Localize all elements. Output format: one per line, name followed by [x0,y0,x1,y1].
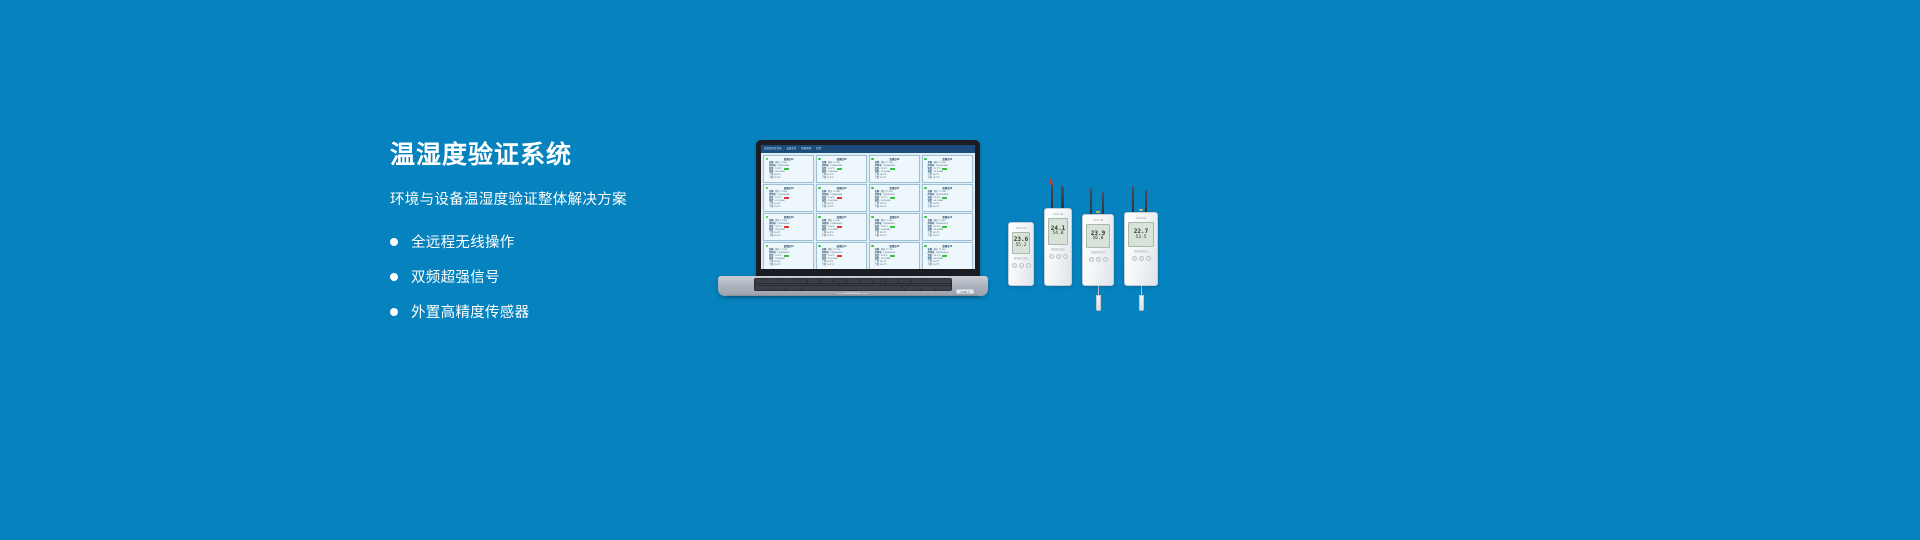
key [781,279,793,281]
device-lcd-display: 22.753.5 [1128,222,1154,247]
lcd-humidity-value: 55.2 [1016,244,1027,249]
key [755,281,782,283]
monitor-card-fields: 名称:探头 T7-009序列号:1320450609温度:26.1℃湿度:58.… [766,220,811,239]
field-value: 下限 15.0℃ [822,264,834,267]
key [924,279,951,281]
ok-chip-icon [890,197,895,199]
monitor-card-row-lower: 下限 15.0℃ [769,177,811,180]
keyboard-row [755,284,951,286]
monitor-card-row-lower: 下限 15.0℃ [769,206,811,209]
app-menu-item[interactable]: 报警 [816,145,821,153]
status-led-icon [871,245,874,248]
laptop-brand-logo: HUAWEI [845,291,861,295]
alarm-chip-icon [837,197,842,199]
monitor-card-title: 监测点03 [872,158,917,161]
monitor-card-title: 监测点06 [819,187,864,190]
sensor-probe-icon [1096,295,1101,311]
status-led-icon [924,158,927,161]
key [795,281,807,283]
product-banner: 温湿度验证系统 环境与设备温湿度验证整体解决方案 全远程无线操作 双频超强信号 … [0,0,1920,540]
monitor-card-title: 监测点13 [766,245,811,248]
key [807,279,819,281]
key [860,281,872,283]
monitor-card-fields: 名称:探头 T7-003序列号:1320450603温度:23.9℃湿度:56.… [872,162,917,181]
feature-item: 双频超强信号 [390,266,720,287]
status-led-icon [871,187,874,190]
sensor-probe-icon [1139,295,1144,311]
bullet-dot-icon [390,308,398,316]
monitor-card-fields: 名称:探头 T7-005序列号:1320450605温度:25.3℃湿度:57.… [766,191,811,210]
key [853,284,866,286]
monitor-card[interactable]: 监测点08名称:探头 T7-008序列号:1320450608温度:23.8℃湿… [922,184,973,212]
connector-ring-icon [1096,211,1100,213]
key [872,279,884,281]
feature-label: 外置高精度传感器 [411,301,529,322]
monitor-card-row-lower: 下限 15.0℃ [822,206,864,209]
device-lcd-display: 23.956.0 [1086,224,1110,248]
page-subtitle: 环境与设备温湿度验证整体解决方案 [390,188,720,209]
key [921,288,936,290]
device-button[interactable] [1049,254,1054,259]
key [837,286,852,288]
monitor-card-row-lower: 下限 15.0℃ [928,177,970,180]
monitor-card-grid: 监测点01名称:探头 T7-001序列号:1320450601温度:23.6℃湿… [761,153,975,269]
field-value: 下限 15.0℃ [928,235,940,238]
monitor-card[interactable]: 监测点02名称:探头 T7-002序列号:1320450602温度:24.1℃湿… [816,155,867,183]
key [853,286,868,288]
key [782,281,794,283]
field-value: 下限 15.0℃ [928,264,940,267]
device-button[interactable] [1063,254,1068,259]
monitor-card[interactable]: 监测点03名称:探头 T7-003序列号:1320450603温度:23.9℃湿… [869,155,920,183]
key [905,288,920,290]
alarm-chip-icon [784,197,789,199]
key [833,279,845,281]
key [755,284,784,286]
monitor-card-row-lower: 下限 15.0℃ [875,177,917,180]
key [755,279,767,281]
monitor-card-title: 监测点12 [925,216,970,219]
monitor-card[interactable]: 监测点14名称:探头 T7-014序列号:1320450614温度:25.0℃湿… [816,242,867,269]
device-button[interactable] [1132,256,1137,261]
monitor-card[interactable]: 监测点09名称:探头 T7-009序列号:1320450609温度:26.1℃湿… [763,213,814,241]
bullet-dot-icon [390,238,398,246]
field-value: 下限 15.0℃ [769,264,781,267]
field-value: 下限 15.0℃ [875,206,887,209]
feature-list: 全远程无线操作 双频超强信号 外置高精度传感器 [390,231,720,322]
field-value: 下限 15.0℃ [769,235,781,238]
monitor-card-title: 监测点10 [819,216,864,219]
device-button[interactable] [1146,256,1151,261]
key [881,284,894,286]
key [820,279,832,281]
key [821,281,833,283]
monitor-card-title: 监测点16 [925,245,970,248]
laptop-base: HUAWEI CORE i7 [718,276,988,296]
monitor-card-row-lower: 下限 15.0℃ [875,264,917,267]
device-button[interactable] [1089,257,1094,262]
key [798,284,811,286]
monitor-card-row-lower: 下限 15.0℃ [822,264,864,267]
monitor-card-fields: 名称:探头 T7-016序列号:1320450616温度:24.2℃湿度:54.… [925,249,970,268]
monitor-card-row-lower: 下限 15.0℃ [928,264,970,267]
device-brand-label: COS-04 [1053,213,1064,216]
monitor-card-row-lower: 下限 15.0℃ [822,235,864,238]
device-button[interactable] [1103,257,1108,262]
app-menu-item[interactable]: 温湿度验证系统 [764,145,781,153]
device-lcd-display: 23.655.2 [1012,232,1030,254]
key [869,286,884,288]
device-button[interactable] [1056,254,1061,259]
lcd-humidity-value: 54.8 [1053,232,1064,237]
field-value: 下限 15.0℃ [822,235,834,238]
device-lcd-display: 24.154.8 [1048,218,1068,245]
key [755,288,770,290]
lcd-humidity-value: 53.5 [1136,236,1147,241]
antenna-icon [1061,186,1063,210]
laptop-shadow [726,295,980,298]
field-value: 下限 15.0℃ [822,206,834,209]
key [840,284,853,286]
status-led-icon [766,158,769,161]
device-brand-label: COS-05 [1093,219,1104,222]
key [936,288,951,290]
key [784,284,797,286]
monitor-card[interactable]: 监测点15名称:探头 T7-015序列号:1320450615温度:23.4℃湿… [869,242,920,269]
key [909,284,922,286]
device-group: COS-0323.655.2温湿度记录仪COS-0424.154.8温湿度记录仪… [1000,180,1220,320]
antenna-icon [1145,190,1147,214]
key [805,286,820,288]
feature-item: 全远程无线操作 [390,231,720,252]
antenna-icon [1090,188,1092,216]
laptop-spec-sticker: CORE i7 [956,289,974,294]
monitor-card-fields: 名称:探头 T7-014序列号:1320450614温度:25.0℃湿度:57.… [819,249,864,268]
feature-item: 外置高精度传感器 [390,301,720,322]
laptop-keyboard[interactable] [754,278,952,291]
key [898,279,910,281]
device-button[interactable] [1096,257,1101,262]
handheld-logger-3[interactable]: COS-0523.956.0温湿度验证仪 [1082,214,1114,286]
handheld-logger-4[interactable]: COS-0622.753.5温湿度验证仪 [1124,212,1158,286]
monitor-card[interactable]: 监测点13名称:探头 T7-013序列号:1320450613温度:24.8℃湿… [763,242,814,269]
feature-label: 双频超强信号 [411,266,500,287]
monitor-card[interactable]: 监测点05名称:探头 T7-005序列号:1320450605温度:25.3℃湿… [763,184,814,212]
probe-cap-icon [1050,178,1052,185]
key [918,286,952,288]
keyboard-row [755,279,951,281]
key [768,279,780,281]
field-value: 下限 15.0℃ [928,206,940,209]
monitor-card-row-lower: 下限 15.0℃ [769,264,811,267]
monitor-card[interactable]: 监测点07名称:探头 T7-007序列号:1320450607温度:23.2℃湿… [869,184,920,212]
page-title: 温湿度验证系统 [390,140,720,170]
key [911,279,923,281]
key [885,279,897,281]
app-topbar: 温湿度验证系统 设备监控 数据管理 报警 [761,145,975,153]
ok-chip-icon [837,168,842,170]
device-button-row [1012,263,1031,268]
monitor-card-title: 监测点07 [872,187,917,190]
device-model-label: 温湿度记录仪 [1051,247,1065,251]
key [867,284,880,286]
field-value: 下限 15.0℃ [875,235,887,238]
monitor-card-row-lower: 下限 15.0℃ [928,235,970,238]
key [859,279,871,281]
monitor-card[interactable]: 监测点01名称:探头 T7-001序列号:1320450601温度:23.6℃湿… [763,155,814,183]
monitor-card-row-lower: 下限 15.0℃ [769,235,811,238]
monitor-card-fields: 名称:探头 T7-001序列号:1320450601温度:23.6℃湿度:55.… [766,162,811,181]
status-led-icon [818,187,821,190]
monitor-card[interactable]: 监测点04名称:探头 T7-004序列号:1320450604温度:22.7℃湿… [922,155,973,183]
device-model-label: 温湿度验证仪 [1134,249,1148,253]
device-brand-label: COS-06 [1136,217,1147,220]
monitor-card-row-lower: 下限 15.0℃ [928,206,970,209]
device-button[interactable] [1012,263,1017,268]
key [755,286,789,288]
monitor-card-title: 监测点11 [872,216,917,219]
antenna-icon [1102,192,1104,216]
key [899,281,911,283]
ok-chip-icon [890,168,895,170]
key [808,281,820,283]
monitor-card-title: 监测点14 [819,245,864,248]
status-led-icon [924,216,927,219]
monitor-card-fields: 名称:探头 T7-007序列号:1320450607温度:23.2℃湿度:55.… [872,191,917,210]
key [834,281,846,283]
monitor-card-title: 监测点09 [766,216,811,219]
monitor-card-row-lower: 下限 15.0℃ [822,177,864,180]
monitor-card-fields: 名称:探头 T7-002序列号:1320450602温度:24.1℃湿度:54.… [819,162,864,181]
app-menu-item[interactable]: 设备监控 [786,145,796,153]
status-led-icon [871,216,874,219]
feature-label: 全远程无线操作 [411,231,515,252]
device-button[interactable] [1139,256,1144,261]
key [902,286,917,288]
field-value: 下限 15.0℃ [875,264,887,267]
status-led-icon [871,158,874,161]
monitor-card-row-lower: 下限 15.0℃ [875,206,917,209]
monitor-card[interactable]: 监测点12名称:探头 T7-012序列号:1320450612温度:22.9℃湿… [922,213,973,241]
monitor-card-fields: 名称:探头 T7-012序列号:1320450612温度:22.9℃湿度:56.… [925,220,970,239]
ok-chip-icon [784,168,789,170]
device-brand-label: COS-03 [1016,227,1027,230]
key [873,281,885,283]
laptop-lid: 温湿度验证系统 设备监控 数据管理 报警 监测点01名称:探头 T7-001序列… [756,140,980,278]
status-led-icon [924,245,927,248]
device-button-row [1089,257,1108,262]
lcd-humidity-value: 56.0 [1093,237,1104,242]
monitor-card-fields: 名称:探头 T7-013序列号:1320450613温度:24.8℃湿度:53.… [766,249,811,268]
keyboard-row [755,286,951,288]
monitor-card-title: 监测点15 [872,245,917,248]
key [794,279,806,281]
key [821,286,836,288]
device-button-row [1049,254,1068,259]
field-value: 下限 15.0℃ [822,177,834,180]
key [789,286,804,288]
field-value: 下限 15.0℃ [769,177,781,180]
monitor-card[interactable]: 监测点06名称:探头 T7-006序列号:1320450606温度:24.6℃湿… [816,184,867,212]
monitor-card-fields: 名称:探头 T7-008序列号:1320450608温度:23.8℃湿度:54.… [925,191,970,210]
laptop-screen: 温湿度验证系统 设备监控 数据管理 报警 监测点01名称:探头 T7-001序列… [761,145,975,269]
monitor-card-row-lower: 下限 15.0℃ [875,235,917,238]
monitor-card-fields: 名称:探头 T7-004序列号:1320450604温度:22.7℃湿度:53.… [925,162,970,181]
monitor-card-fields: 名称:探头 T7-015序列号:1320450615温度:23.4℃湿度:55.… [872,249,917,268]
monitor-card-fields: 名称:探头 T7-011序列号:1320450611温度:23.5℃湿度:54.… [872,220,917,239]
field-value: 下限 15.0℃ [928,177,940,180]
keyboard-row [755,281,951,283]
key [846,279,858,281]
key [924,281,951,283]
monitor-card-fields: 名称:探头 T7-010序列号:1320450610温度:24.4℃湿度:55.… [819,220,864,239]
monitor-card-title: 监测点02 [819,158,864,161]
monitor-card-title: 监测点08 [925,187,970,190]
status-led-icon [924,187,927,190]
device-button[interactable] [1026,263,1031,268]
key [812,284,825,286]
antenna-icon [1051,182,1053,210]
device-model-label: 温湿度验证仪 [1091,250,1105,254]
monitor-card-fields: 名称:探头 T7-006序列号:1320450606温度:24.6℃湿度:52.… [819,191,864,210]
device-button-row [1132,256,1151,261]
monitor-card-title: 监测点01 [766,158,811,161]
key [771,288,786,290]
key [895,284,908,286]
antenna-icon [1132,186,1134,214]
key [847,281,859,283]
key [922,284,951,286]
monitor-card[interactable]: 监测点10名称:探头 T7-010序列号:1320450610温度:24.4℃湿… [816,213,867,241]
key [826,284,839,286]
connector-ring-icon [1139,209,1143,211]
field-value: 下限 15.0℃ [875,177,887,180]
monitor-card[interactable]: 监测点16名称:探头 T7-016序列号:1320450616温度:24.2℃湿… [922,242,973,269]
laptop-illustration: 温湿度验证系统 设备监控 数据管理 报警 监测点01名称:探头 T7-001序列… [718,140,988,300]
bullet-dot-icon [390,273,398,281]
device-button[interactable] [1019,263,1024,268]
key [786,288,801,290]
status-led-icon [818,158,821,161]
device-model-label: 温湿度记录仪 [1014,256,1028,260]
app-menu-item[interactable]: 数据管理 [801,145,811,153]
handheld-logger-2[interactable]: COS-0424.154.8温湿度记录仪 [1044,208,1072,286]
monitor-card-title: 监测点05 [766,187,811,190]
monitor-card[interactable]: 监测点11名称:探头 T7-011序列号:1320450611温度:23.5℃湿… [869,213,920,241]
handheld-logger-1[interactable]: COS-0323.655.2温湿度记录仪 [1008,222,1034,286]
ok-chip-icon [942,168,947,170]
key [885,286,900,288]
key [912,281,924,283]
field-value: 下限 15.0℃ [769,206,781,209]
monitor-card-title: 监测点04 [925,158,970,161]
key [886,281,898,283]
banner-copy-block: 温湿度验证系统 环境与设备温湿度验证整体解决方案 全远程无线操作 双频超强信号 … [390,140,720,336]
